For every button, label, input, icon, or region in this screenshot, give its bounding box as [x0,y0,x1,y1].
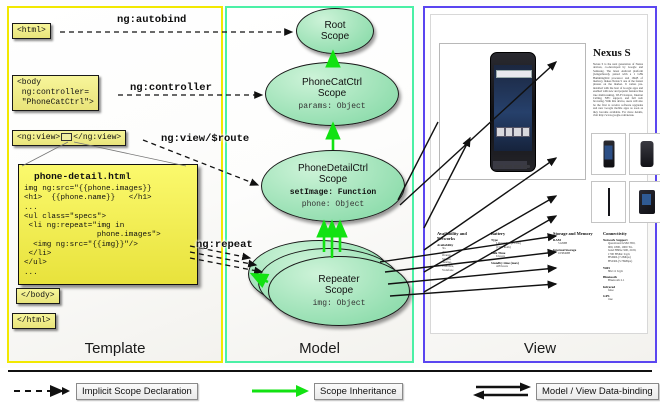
legend-label-implicit: Implicit Scope Declaration [76,383,198,400]
spec-table: Availability and Networks Availability 3… [435,231,643,303]
scope-phonedetailctrl-prop-phone: phone: Object [302,200,364,210]
scope-root: Root Scope [296,8,374,54]
spec-heading-storage: Storage and Memory [553,231,599,236]
scope-phonedetailctrl-prop-setimage: setImage: Function [290,188,376,198]
spec-column-storage: Storage and Memory RAM 512MB Internal St… [553,231,599,255]
spec-value: 428 hours [496,265,549,269]
spec-value: true [608,298,645,302]
legend-item-implicit-declaration: Implicit Scope Declaration [12,382,198,400]
spec-value: (1500 mAh) [496,246,549,250]
thumbnail-back[interactable] [629,133,660,175]
phone-key-menu-icon [505,165,512,168]
legend-label-inheritance: Scope Inheritance [314,383,403,400]
scope-phonecatctrl-name-l1: PhoneCatCtrl [302,77,362,89]
thumbnail-front-icon [603,141,614,168]
scope-repeater-name-l1: Repeater [318,274,359,286]
scope-root-name-l2: Scope [321,31,349,43]
phone-device-illustration [490,52,536,172]
thumbnail-front[interactable] [591,133,626,175]
spec-heading-connectivity: Connectivity [603,231,645,236]
legend-item-scope-inheritance: Scope Inheritance [250,382,403,400]
spec-value: HSUPA (5.76Mbps) [608,260,645,264]
thumbnail-side[interactable] [591,181,626,223]
spec-heading-battery: Battery [491,231,549,236]
ngview-open-tag: <ng:view> [17,133,60,142]
connection-label-ngview: ng:view/$route [161,133,249,145]
dashed-arrow-icon [12,382,72,400]
code-box-html-close: </html> [12,313,56,329]
scope-phonecatctrl-prop-params: params: Object [298,102,365,112]
legend-divider [8,370,652,372]
phone-hero-image-frame [439,43,586,180]
spec-column-availability: Availability and Networks Availability 3… [437,231,485,272]
connection-label-controller: ng:controller [130,82,212,94]
column-label-template: Template [9,340,221,357]
connection-label-ngrepeat: ng:repeat [196,239,253,251]
spec-heading-availability: Availability and Networks [437,231,485,241]
thumbnail-angled-icon [639,190,655,214]
code-box-body-open: <body ng:controller= "PhoneCatCtrl"> [12,75,99,111]
column-label-model: Model [227,340,412,357]
legend-item-data-binding: Model / View Data-binding [472,382,659,400]
scope-phonecatctrl-name-l2: Scope [318,88,346,100]
phone-app-icons [496,127,530,139]
code-box-phone-detail: phone-detail.html img ng:src="{{phone.im… [18,164,198,285]
scope-phonedetailctrl-name-l1: PhoneDetailCtrl [298,163,368,175]
ngview-placeholder-icon [61,133,72,141]
code-box-body-close: </body> [16,288,60,304]
code-box-html-open: <html> [12,23,51,39]
thumbnail-angled[interactable] [629,181,660,223]
phone-search-bar-icon [496,70,532,78]
scope-repeater-name-l2: Scope [325,285,353,297]
scope-phonecatctrl: PhoneCatCtrl Scope params: Object [265,62,399,126]
product-description: Nexus S is the next generation of Nexus … [593,63,643,118]
scope-repeater-prop-img: img: Object [313,299,366,309]
spec-column-battery: Battery Type Lithium Ion (Li-Ion) (1500 … [491,231,549,268]
spec-value: 802.11 b/g/n [608,270,645,274]
scope-phonedetailctrl: PhoneDetailCtrl Scope setImage: Function… [261,150,405,222]
column-label-view: View [425,340,655,357]
phone-detail-filename: phone-detail.html [34,171,192,182]
spec-value: Vodafone [442,269,485,273]
spec-value: 6 hours [496,255,549,259]
scope-repeater: Repeater Scope img: Object [268,256,410,326]
diagram-canvas: Template <html> <body ng:controller= "Ph… [0,0,660,420]
spec-value: false [608,289,645,293]
connection-label-autobind: ng:autobind [117,14,186,26]
green-arrow-icon [250,382,310,400]
double-arrow-icon [472,382,532,400]
product-title: Nexus S [593,47,631,59]
phone-key-search-icon [514,165,521,168]
spec-value: 16384MB [558,252,599,256]
phone-screen [494,65,532,151]
spec-value: Bluetooth 2.1 [608,279,645,283]
scope-phonedetailctrl-name-l2: Scope [319,174,347,186]
phone-detail-code: img ng:src="{{phone.images}} <h1> {{phon… [24,185,192,278]
code-box-ngview: <ng:view></ng:view> [12,130,126,146]
spec-column-connectivity: Connectivity Network Support Quad-band G… [603,231,645,302]
thumbnail-back-icon [640,141,653,167]
scope-root-name-l1: Root [324,20,345,32]
thumbnail-side-icon [608,188,610,216]
spec-value: 512MB [558,242,599,246]
rendered-view-page: Nexus S Nexus S is the next generation o… [430,14,648,334]
phone-key-home-icon [523,165,530,168]
ngview-close-tag: </ng:view> [73,133,121,142]
legend: Implicit Scope Declaration Scope Inherit… [0,368,660,420]
legend-label-databinding: Model / View Data-binding [536,383,659,400]
phone-key-back-icon [496,165,503,168]
